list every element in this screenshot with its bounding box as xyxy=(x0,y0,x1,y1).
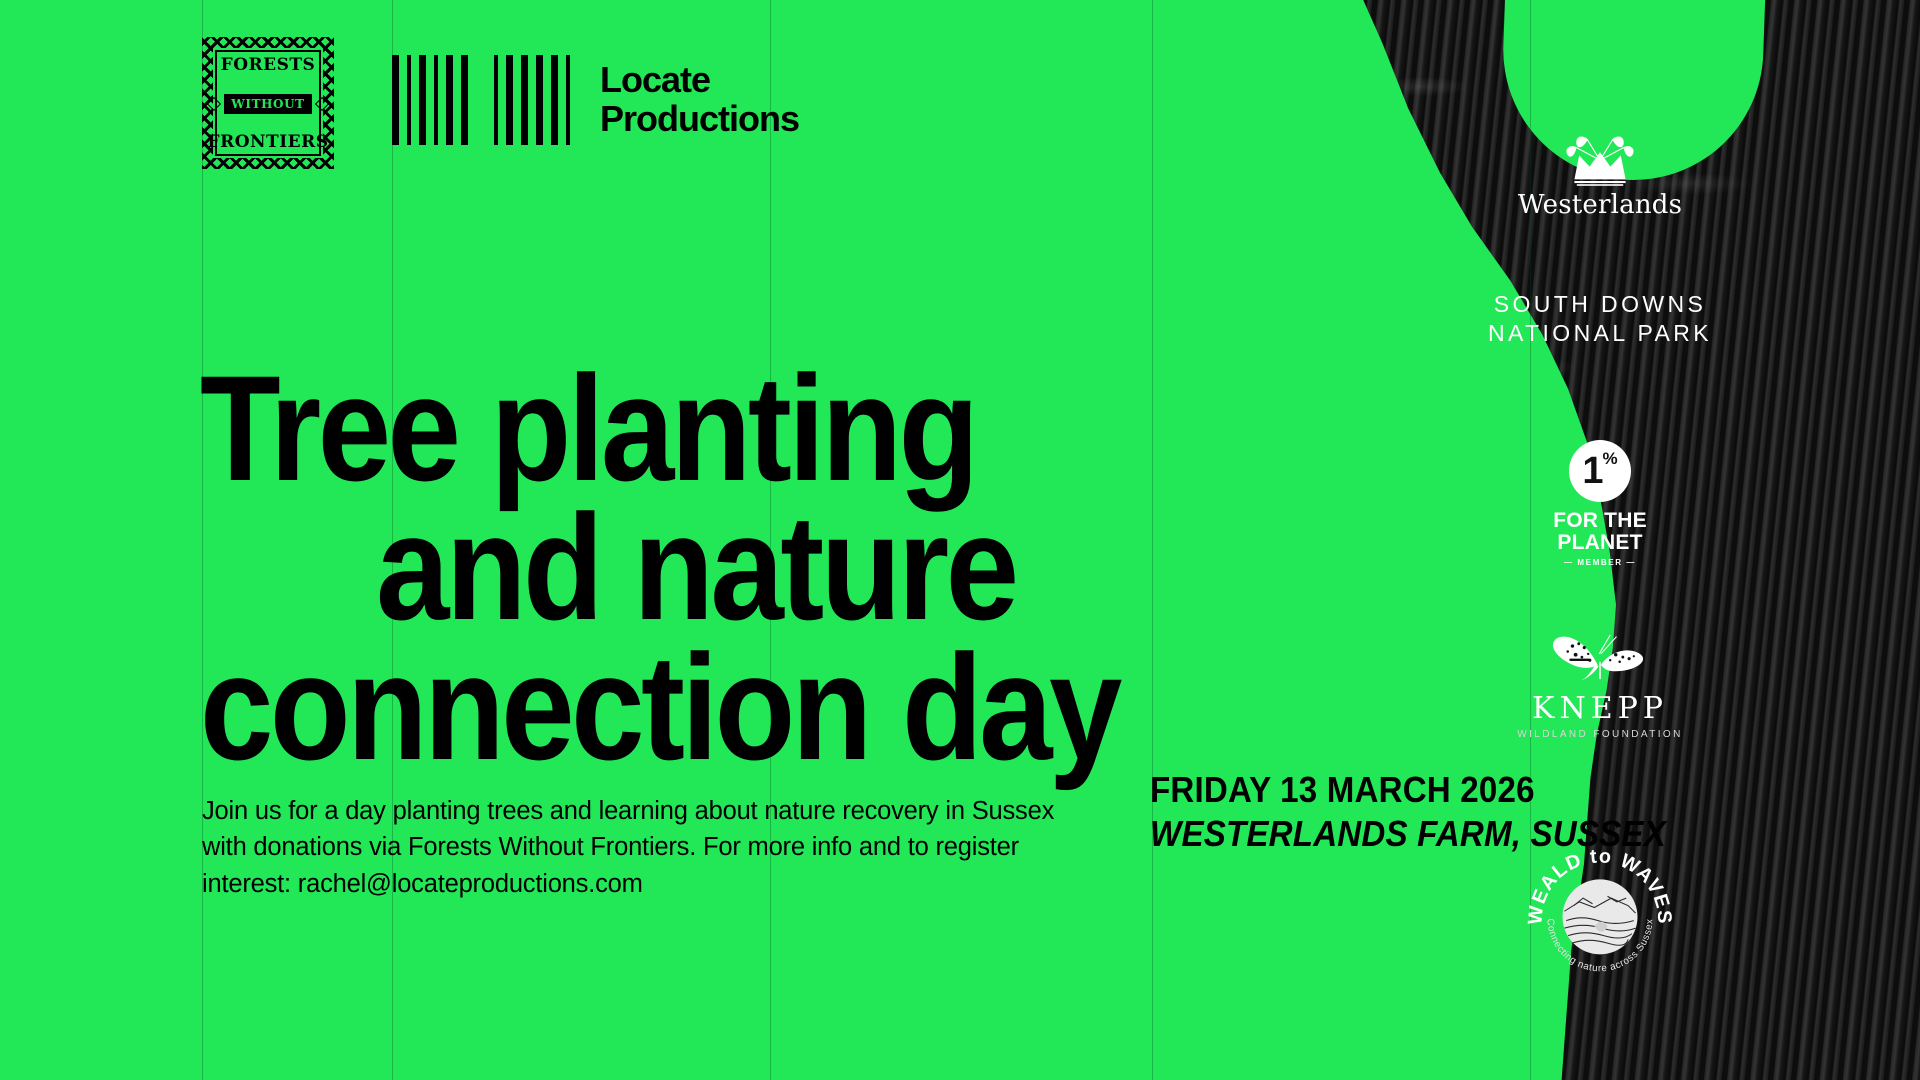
sponsor-south-downs-national-park[interactable]: SOUTH DOWNS NATIONAL PARK xyxy=(1280,290,1920,349)
knepp-label: KNEPP xyxy=(1280,694,1920,724)
sdnp-line-1: SOUTH DOWNS xyxy=(1280,290,1920,319)
headline-line-3: connection day xyxy=(200,638,1119,778)
page-title: Tree planting and nature connection day xyxy=(200,359,1119,778)
sdnp-line-2: NATIONAL PARK xyxy=(1280,319,1920,348)
planet-line-2: PLANET xyxy=(1280,532,1920,554)
barcode-mark-icon xyxy=(392,55,570,145)
badge-number: 1 xyxy=(1582,452,1602,490)
sponsor-westerlands-label: Westerlands xyxy=(1280,192,1920,218)
body-paragraph: Join us for a day planting trees and lea… xyxy=(202,793,1102,904)
knepp-subtitle: WILDLAND FOUNDATION xyxy=(1280,729,1920,740)
headline-line-1: Tree planting xyxy=(200,359,1119,499)
headline-line-2: and nature xyxy=(200,498,1119,638)
fwf-line-3: FRONTIERS xyxy=(208,134,329,151)
sponsor-one-percent-for-the-planet[interactable]: 1 % FOR THE PLANET — MEMBER — xyxy=(1280,440,1920,567)
planet-line-1: FOR THE xyxy=(1280,510,1920,532)
forests-without-frontiers-logo[interactable]: FORESTS WITHOUT FRONTIERS xyxy=(202,37,334,169)
locate-productions-logo[interactable]: Locate Productions xyxy=(392,55,799,145)
fwf-line-1: FORESTS xyxy=(221,57,316,74)
sponsor-westerlands[interactable]: Westerlands xyxy=(1280,128,1920,218)
sponsor-weald-to-waves[interactable]: WEALD to WAVES Connecting nature across … xyxy=(1280,840,1920,990)
planet-member-label: — MEMBER — xyxy=(1280,558,1920,567)
poster-canvas: FORESTS WITHOUT FRONTIERS xyxy=(0,0,1920,1080)
fwf-line-2: WITHOUT xyxy=(224,94,311,114)
sponsor-logo-stack: Westerlands SOUTH DOWNS NATIONAL PARK 1 … xyxy=(1280,0,1920,1080)
locate-line-1: Locate xyxy=(600,61,799,100)
badge-percent-symbol: % xyxy=(1603,450,1618,467)
locate-line-2: Productions xyxy=(600,100,799,139)
butterfly-icon xyxy=(1541,630,1659,692)
crown-with-leaves-icon xyxy=(1552,128,1648,186)
one-percent-badge-icon: 1 % xyxy=(1569,440,1631,502)
landscape-circle-icon: WEALD to WAVES Connecting nature across … xyxy=(1525,840,1675,990)
sponsor-knepp-wildland-foundation[interactable]: KNEPP WILDLAND FOUNDATION xyxy=(1280,630,1920,740)
